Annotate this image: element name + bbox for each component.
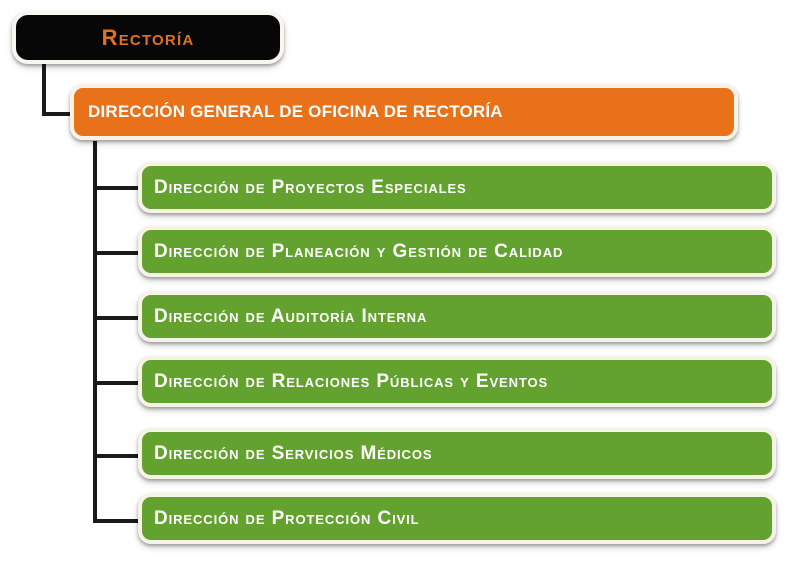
connector-root-vertical [42,58,46,116]
node-direccion-proyectos-especiales-label: Dirección de Proyectos Especiales [142,177,772,199]
node-direccion-planeacion-gestion-calidad[interactable]: Dirección de Planeación y Gestión de Cal… [138,226,776,277]
connector-branch-6 [93,519,141,523]
connector-level1-trunk [93,141,97,523]
node-rectoria-label: Rectoría [16,25,280,51]
connector-branch-3 [93,316,141,320]
node-direccion-auditoria-interna[interactable]: Dirección de Auditoría Interna [138,291,776,342]
node-direccion-proteccion-civil-label: Dirección de Protección Civil [142,508,772,530]
connector-branch-4 [93,381,141,385]
node-direccion-servicios-medicos-label: Dirección de Servicios Médicos [142,443,772,465]
connector-branch-5 [93,454,141,458]
node-direccion-general-oficina-rectoria[interactable]: Dirección General de Oficina de Rectoría [70,84,738,140]
node-direccion-relaciones-publicas-eventos[interactable]: Dirección de Relaciones Públicas y Event… [138,356,776,407]
connector-branch-1 [93,186,141,190]
node-direccion-servicios-medicos[interactable]: Dirección de Servicios Médicos [138,428,776,479]
node-direccion-proyectos-especiales[interactable]: Dirección de Proyectos Especiales [138,162,776,213]
node-direccion-general-oficina-rectoria-label: Dirección General de Oficina de Rectoría [74,102,734,122]
node-direccion-relaciones-publicas-eventos-label: Dirección de Relaciones Públicas y Event… [142,371,772,393]
node-direccion-proteccion-civil[interactable]: Dirección de Protección Civil [138,493,776,544]
node-rectoria[interactable]: Rectoría [12,11,284,64]
node-direccion-auditoria-interna-label: Dirección de Auditoría Interna [142,306,772,328]
connector-branch-2 [93,251,141,255]
node-direccion-planeacion-gestion-calidad-label: Dirección de Planeación y Gestión de Cal… [142,241,772,263]
org-chart-canvas: Rectoría Dirección General de Oficina de… [0,0,796,566]
